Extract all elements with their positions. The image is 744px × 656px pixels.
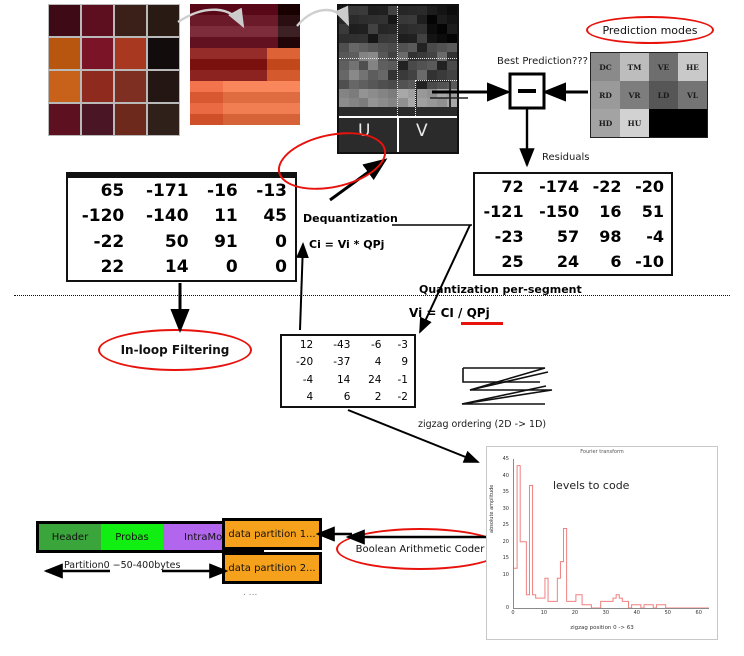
zoom-pixel — [234, 103, 245, 114]
yuv-pixel — [408, 43, 418, 52]
yuv-pixel — [368, 52, 378, 61]
matrix-cell: -120 — [68, 204, 132, 230]
zoom-pixel — [256, 70, 267, 81]
yuv-pixel — [398, 70, 408, 79]
chart-x-tick: 20 — [572, 610, 578, 616]
zoom-pixel — [245, 37, 256, 48]
prediction-mode-tm: TM — [620, 53, 649, 81]
matrix-cell: 6 — [319, 389, 356, 407]
yuv-pixel — [447, 43, 457, 52]
uv-plane-separator — [397, 116, 399, 152]
yuv-pixel — [368, 24, 378, 33]
chart-y-tick: 35 — [495, 489, 509, 495]
zoom-pixel — [278, 114, 289, 125]
quantization-formula: Vi = CI / QPj — [409, 306, 490, 320]
boolean-coder-label: Boolean Arithmetic Coder — [356, 544, 485, 555]
bitstream-segment-header[interactable]: Header — [39, 524, 101, 550]
yuv-pixel — [427, 70, 437, 79]
matrix-row: -120-1401145 — [68, 204, 295, 230]
matrix-cell: 25 — [475, 249, 531, 274]
zoom-pixel — [234, 70, 245, 81]
yuv-pixel — [398, 43, 408, 52]
amplitude-histogram-chart: Fourier transform absolute amplitude zig… — [486, 446, 718, 640]
zoom-pixel — [289, 26, 300, 37]
dequantization-label: Dequantization — [303, 212, 398, 225]
zoom-pixel — [212, 48, 223, 59]
matrix-row: -2250910 — [68, 229, 295, 255]
zoom-pixel — [256, 92, 267, 103]
chart-annotation: levels to code — [553, 479, 629, 492]
zoom-pixel — [256, 103, 267, 114]
yuv-pixel — [398, 15, 408, 24]
matrix-row: -20-3749 — [282, 354, 414, 372]
zoom-pixel — [234, 4, 245, 15]
matrix-cell: 45 — [246, 204, 295, 230]
yuv-pixel — [408, 6, 418, 15]
yuv-pixel — [417, 24, 427, 33]
yuv-pixel — [427, 52, 437, 61]
matrix-cell: -20 — [282, 354, 319, 372]
yuv-pixel — [359, 43, 369, 52]
yuv-pixel — [408, 70, 418, 79]
yuv-pixel — [427, 24, 437, 33]
yuv-pixel — [427, 61, 437, 70]
zoom-pixel — [223, 70, 234, 81]
yuv-pixel — [349, 6, 359, 15]
yuv-pixel — [359, 89, 369, 98]
zoom-pixel — [201, 37, 212, 48]
matrix-cell: 72 — [475, 174, 531, 199]
yuv-pixel — [417, 70, 427, 79]
matrix-cell: 50 — [132, 229, 196, 255]
zoom-pixel — [223, 15, 234, 26]
matrix-cell: -1 — [387, 371, 414, 389]
matrix-cell: -22 — [586, 174, 628, 199]
frame-macroblock — [147, 4, 180, 37]
yuv-pixel — [378, 61, 388, 70]
zoom-pixel — [256, 59, 267, 70]
subblock-guide-h — [415, 80, 457, 81]
zoom-pixel — [234, 48, 245, 59]
yuv-pixel — [437, 43, 447, 52]
matrix-cell: 24 — [531, 249, 587, 274]
yuv-pixel — [378, 70, 388, 79]
yuv-pixel — [437, 6, 447, 15]
zoom-pixel — [256, 37, 267, 48]
zoom-pixel — [223, 4, 234, 15]
zoom-pixel — [234, 15, 245, 26]
matrix-row: -41424-1 — [282, 371, 414, 389]
yuv-pixel — [378, 6, 388, 15]
yuv-pixel — [447, 52, 457, 61]
frame-macroblock — [147, 70, 180, 103]
prediction-modes-highlight: Prediction modes — [586, 16, 714, 44]
inloop-filtering-label: In-loop Filtering — [121, 343, 230, 357]
matrix-cell: 22 — [68, 255, 132, 281]
zoom-pixel — [190, 114, 201, 125]
matrix-cell: -22 — [68, 229, 132, 255]
matrix-cell: 65 — [68, 178, 132, 204]
v-plane-label: V — [416, 121, 428, 141]
zoom-pixel — [245, 59, 256, 70]
yuv-pixel — [349, 34, 359, 43]
zoom-pixel — [201, 114, 212, 125]
zoom-pixel — [201, 92, 212, 103]
frame-macroblock — [114, 70, 147, 103]
zoom-pixel — [245, 114, 256, 125]
chart-x-tick: 10 — [541, 610, 547, 616]
zoom-pixel — [212, 26, 223, 37]
yuv-pixel — [359, 80, 369, 89]
yuv-pixel — [368, 15, 378, 24]
dequantized-coefficient-matrix: 65-171-16-13-120-1401145-2250910221400 — [66, 176, 297, 282]
yuv-pixel — [437, 24, 447, 33]
zoom-pixel — [223, 103, 234, 114]
yuv-pixel — [378, 52, 388, 61]
zoom-pixel — [212, 37, 223, 48]
yuv-pixel — [359, 15, 369, 24]
matrix-cell: 14 — [132, 255, 196, 281]
matrix-cell: -171 — [132, 178, 196, 204]
yuv-pixel — [339, 34, 349, 43]
yuv-pixel — [378, 34, 388, 43]
zoom-pixel — [267, 15, 278, 26]
zoom-pixel — [256, 4, 267, 15]
chart-y-tick: 25 — [495, 522, 509, 528]
yuv-pixel — [378, 98, 388, 107]
zoom-pixel — [245, 4, 256, 15]
yuv-pixel — [368, 61, 378, 70]
matrix-cell: -43 — [319, 336, 356, 354]
zoom-pixel — [223, 59, 234, 70]
matrix-cell: -20 — [629, 174, 671, 199]
zoom-pixel — [212, 81, 223, 92]
matrix-cell: 0 — [197, 255, 246, 281]
prediction-mode-vl: VL — [678, 81, 707, 109]
zoom-pixel — [201, 4, 212, 15]
zoom-pixel — [201, 59, 212, 70]
yuv-pixel — [447, 6, 457, 15]
yuv-pixel — [339, 80, 349, 89]
zoom-pixel — [190, 70, 201, 81]
zoom-pixel — [234, 114, 245, 125]
frame-macroblock — [147, 103, 180, 136]
yuv-pixel — [378, 89, 388, 98]
matrix-cell: 12 — [282, 336, 319, 354]
yuv-pixel — [359, 24, 369, 33]
zoom-pixel — [278, 103, 289, 114]
matrix-cell: 24 — [356, 371, 387, 389]
zoom-pixel — [289, 15, 300, 26]
yuv-pixel — [359, 70, 369, 79]
residuals-matrix: 72-174-22-20-121-1501651-235798-425246-1… — [473, 172, 673, 276]
yuv-pixel — [368, 80, 378, 89]
zoom-pixel — [201, 48, 212, 59]
zoom-pixel — [278, 81, 289, 92]
yuv-pixel — [339, 61, 349, 70]
yuv-pixel — [408, 34, 418, 43]
zoom-pixel — [190, 37, 201, 48]
chart-x-tick: 0 — [511, 610, 514, 616]
zoom-pixel — [190, 4, 201, 15]
zoom-pixel — [190, 92, 201, 103]
zoom-pixel — [278, 37, 289, 48]
zoom-pixel — [245, 48, 256, 59]
yuv-pixel — [398, 61, 408, 70]
subblock-guide-v — [415, 80, 416, 116]
zoom-pixel — [234, 37, 245, 48]
y-block-divider-v — [397, 6, 398, 116]
yuv-pixel — [417, 61, 427, 70]
prediction-mode-hu: HU — [620, 109, 649, 137]
chart-x-tick: 30 — [603, 610, 609, 616]
zoom-pixel — [289, 81, 300, 92]
yuv-pixel — [339, 89, 349, 98]
chart-y-tick: 45 — [495, 456, 509, 462]
prediction-mode-vr: VR — [620, 81, 649, 109]
yuv-pixel — [408, 24, 418, 33]
frame-macroblock — [48, 37, 81, 70]
zoom-pixel — [234, 59, 245, 70]
yuv-pixel — [378, 15, 388, 24]
frame-macroblock — [48, 4, 81, 37]
zoom-pixel — [267, 70, 278, 81]
yuv-pixel — [417, 52, 427, 61]
zoom-pixel — [245, 15, 256, 26]
yuv-pixel — [349, 61, 359, 70]
chart-x-axis-label: zigzag position 0 -> 63 — [487, 625, 717, 631]
matrix-cell: 11 — [197, 204, 246, 230]
matrix-row: 72-174-22-20 — [475, 174, 671, 199]
matrix-cell: -16 — [197, 178, 246, 204]
prediction-mode-empty — [649, 109, 678, 137]
zoom-pixel — [190, 26, 201, 37]
best-prediction-label: Best Prediction??? — [497, 56, 588, 67]
frame-macroblock — [147, 37, 180, 70]
yuv-pixel — [378, 80, 388, 89]
yuv-pixel — [349, 43, 359, 52]
inloop-filtering-node: In-loop Filtering — [98, 329, 252, 371]
matrix-row: 221400 — [68, 255, 295, 281]
zoom-pixel — [256, 15, 267, 26]
zoom-pixel — [201, 26, 212, 37]
matrix-row: 12-43-6-3 — [282, 336, 414, 354]
data-partition-block[interactable]: data partition 1... — [222, 518, 322, 550]
matrix-cell: -23 — [475, 224, 531, 249]
zoom-pixel — [289, 48, 300, 59]
matrix-cell: 0 — [246, 229, 295, 255]
yuv-pixel — [437, 52, 447, 61]
y-block-divider-h — [339, 58, 457, 59]
matrix-cell: 4 — [282, 389, 319, 407]
zoom-pixel — [223, 37, 234, 48]
zoom-pixel — [267, 59, 278, 70]
chart-title: Fourier transform — [487, 449, 717, 455]
zoom-pixel — [190, 48, 201, 59]
yuv-pixel — [378, 43, 388, 52]
zoom-pixel — [190, 15, 201, 26]
zoom-pixel — [190, 81, 201, 92]
zoom-pixel — [212, 15, 223, 26]
yuv-pixel — [437, 15, 447, 24]
matrix-cell: 0 — [246, 255, 295, 281]
matrix-cell: 6 — [586, 249, 628, 274]
zoom-pixel — [223, 92, 234, 103]
zoom-pixel — [278, 4, 289, 15]
zoom-pixel — [212, 59, 223, 70]
matrix-cell: 4 — [356, 354, 387, 372]
bitstream-segment-probas[interactable]: Probas — [101, 524, 163, 550]
zoom-pixel — [278, 15, 289, 26]
matrix-row: 65-171-16-13 — [68, 178, 295, 204]
zoom-pixel — [278, 26, 289, 37]
yuv-pixel — [339, 24, 349, 33]
zoom-pixel — [289, 114, 300, 125]
zoom-pixel — [278, 92, 289, 103]
yuv-pixel — [447, 34, 457, 43]
yuv-pixel — [349, 98, 359, 107]
boolean-arithmetic-coder-node: Boolean Arithmetic Coder — [336, 528, 504, 570]
frame-macroblock — [114, 37, 147, 70]
yuv-pixel — [398, 34, 408, 43]
yuv-pixel — [417, 15, 427, 24]
zoom-pixel — [267, 92, 278, 103]
chart-y-tick: 0 — [495, 605, 509, 611]
matrix-cell: 14 — [319, 371, 356, 389]
yuv-pixel — [417, 6, 427, 15]
yuv-pixel — [398, 98, 408, 107]
chart-y-tick: 30 — [495, 506, 509, 512]
zoom-pixel — [190, 103, 201, 114]
prediction-mode-dc: DC — [591, 53, 620, 81]
zoom-pixel — [212, 92, 223, 103]
prediction-mode-hd: HD — [591, 109, 620, 137]
zoom-pixel — [234, 92, 245, 103]
zoom-pixel — [234, 81, 245, 92]
yuv-pixel — [398, 52, 408, 61]
zoom-pixel — [245, 92, 256, 103]
yuv-pixel — [349, 24, 359, 33]
prediction-modes-grid: DCTMVEHERDVRLDVLHDHU — [590, 52, 708, 138]
matrix-cell: 2 — [356, 389, 387, 407]
zoom-pixel — [190, 59, 201, 70]
yuv-pixel — [427, 43, 437, 52]
yuv-pixel — [447, 24, 457, 33]
yuv-pixel — [398, 89, 408, 98]
yuv-pixel — [339, 6, 349, 15]
frame-macroblock — [114, 103, 147, 136]
yuv-pixel — [359, 52, 369, 61]
frame-macroblock — [48, 103, 81, 136]
matrix-row: 462-2 — [282, 389, 414, 407]
frame-macroblock — [81, 37, 114, 70]
yuv-pixel — [408, 61, 418, 70]
yuv-pixel — [378, 24, 388, 33]
matrix-cell: -150 — [531, 199, 587, 224]
yuv-pixel — [398, 24, 408, 33]
zoomed-macroblock-image — [190, 4, 300, 126]
matrix-cell: 9 — [387, 354, 414, 372]
zoom-pixel — [267, 103, 278, 114]
yuv-pixel — [339, 43, 349, 52]
zoom-pixel — [267, 4, 278, 15]
matrix-cell: -4 — [629, 224, 671, 249]
matrix-cell: -140 — [132, 204, 196, 230]
yuv-pixel — [368, 6, 378, 15]
prediction-mode-rd: RD — [591, 81, 620, 109]
zoom-pixel — [245, 81, 256, 92]
dequantization-formula: Ci = Vi * QPj — [309, 238, 384, 251]
yuv-pixel — [398, 6, 408, 15]
matrix-cell: -10 — [629, 249, 671, 274]
yuv-pixel — [427, 6, 437, 15]
yuv-pixel — [368, 34, 378, 43]
chart-x-tick: 40 — [634, 610, 640, 616]
yuv-pixel — [398, 80, 408, 89]
yuv-pixel — [368, 43, 378, 52]
matrix-cell: 91 — [197, 229, 246, 255]
quantized-levels-matrix: 12-43-6-3-20-3749-41424-1462-2 — [280, 334, 416, 408]
matrix-cell: -6 — [356, 336, 387, 354]
zoom-pixel — [201, 103, 212, 114]
quantization-formula-underline — [461, 322, 503, 325]
chart-x-tick: 50 — [665, 610, 671, 616]
data-partition-block[interactable]: data partition 2... — [222, 552, 322, 584]
prediction-mode-he: HE — [678, 53, 707, 81]
chart-y-tick: 20 — [495, 539, 509, 545]
frame-macroblock — [81, 4, 114, 37]
chart-y-tick: 15 — [495, 555, 509, 561]
zoom-pixel — [223, 81, 234, 92]
zoom-pixel — [201, 81, 212, 92]
frame-macroblock — [48, 70, 81, 103]
frame-macroblock — [81, 70, 114, 103]
selected-subblock — [415, 80, 451, 112]
zoom-pixel — [245, 70, 256, 81]
yuv-pixel — [427, 15, 437, 24]
chart-x-tick: 60 — [696, 610, 702, 616]
partitions-ellipsis: . ... — [243, 588, 257, 598]
yuv-pixel — [339, 52, 349, 61]
matrix-cell: 16 — [586, 199, 628, 224]
yuv-pixel — [437, 34, 447, 43]
matrix-cell: -121 — [475, 199, 531, 224]
zoom-pixel — [278, 59, 289, 70]
zoom-pixel — [201, 15, 212, 26]
zoom-pixel — [223, 114, 234, 125]
matrix-cell: -2 — [387, 389, 414, 407]
zigzag-ordering-label: zigzag ordering (2D -> 1D) — [418, 419, 546, 430]
matrix-row: 25246-10 — [475, 249, 671, 274]
prediction-mode-ve: VE — [649, 53, 678, 81]
zoom-pixel — [212, 103, 223, 114]
zoom-pixel — [212, 70, 223, 81]
zoom-pixel — [267, 81, 278, 92]
yuv-pixel — [408, 52, 418, 61]
zoom-pixel — [289, 70, 300, 81]
pipeline-divider — [14, 295, 730, 296]
partition0-caption: Partition0 −50-400bytes — [64, 560, 180, 571]
matrix-row: -121-1501651 — [475, 199, 671, 224]
matrix-cell: 51 — [629, 199, 671, 224]
yuv-pixel — [339, 70, 349, 79]
yuv-pixel — [349, 89, 359, 98]
yuv-pixel — [447, 70, 457, 79]
yuv-pixel — [359, 6, 369, 15]
residuals-label: Residuals — [542, 152, 589, 163]
zoom-pixel — [267, 37, 278, 48]
yuv-pixel — [447, 61, 457, 70]
